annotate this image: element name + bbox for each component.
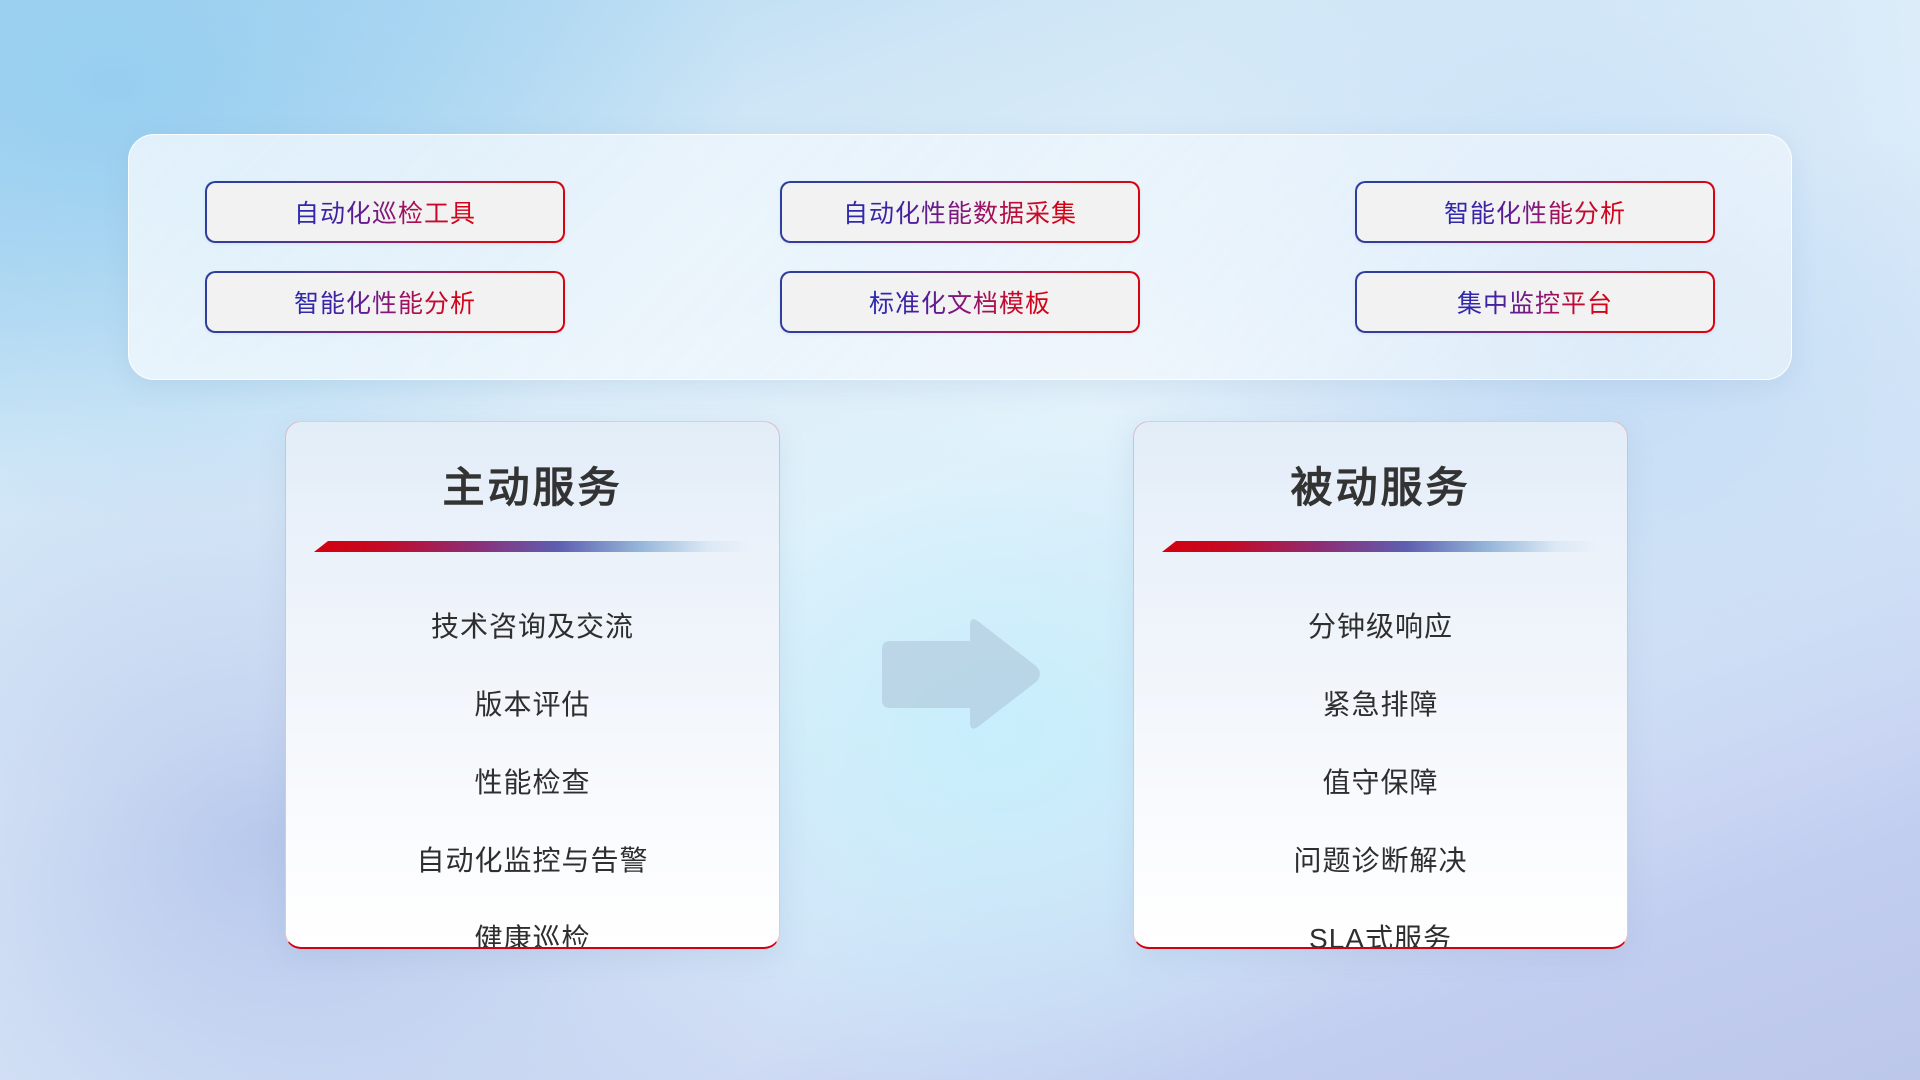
capability-tag[interactable]: 标准化文档模板 — [780, 271, 1140, 333]
card-list-item: 版本评估 — [286, 666, 779, 744]
card-list-item: 分钟级响应 — [1134, 588, 1627, 666]
service-card-active: 主动服务 技术咨询及交流 版本评估 性能检查 自动化监控与告警 健康巡检 — [285, 421, 780, 949]
card-divider — [314, 541, 751, 552]
card-title: 主动服务 — [286, 454, 779, 515]
capability-tag[interactable]: 智能化性能分析 — [1355, 181, 1715, 243]
card-list-item: 问题诊断解决 — [1134, 822, 1627, 900]
capability-tag[interactable]: 集中监控平台 — [1355, 271, 1715, 333]
service-card-passive: 被动服务 分钟级响应 紧急排障 值守保障 问题诊断解决 SLA式服务 — [1133, 421, 1628, 949]
capability-tag-label: 自动化性能数据采集 — [843, 194, 1077, 230]
card-title: 被动服务 — [1134, 454, 1627, 515]
capability-tag[interactable]: 自动化性能数据采集 — [780, 181, 1140, 243]
capability-tag-label: 标准化文档模板 — [869, 284, 1051, 320]
card-divider — [1162, 541, 1599, 552]
card-divider-bar — [1162, 541, 1599, 552]
capability-tag-row: 智能化性能分析 标准化文档模板 集中监控平台 — [205, 271, 1715, 333]
card-divider-bar — [314, 541, 751, 552]
card-list-item: 值守保障 — [1134, 744, 1627, 822]
card-item-list: 技术咨询及交流 版本评估 性能检查 自动化监控与告警 健康巡检 — [286, 588, 779, 949]
capability-tag-label: 智能化性能分析 — [1444, 194, 1626, 230]
card-list-item: 健康巡检 — [286, 900, 779, 949]
card-list-item: SLA式服务 — [1134, 900, 1627, 949]
card-list-item: 紧急排障 — [1134, 666, 1627, 744]
capability-tag-label: 自动化巡检工具 — [294, 194, 476, 230]
card-list-item: 性能检查 — [286, 744, 779, 822]
capability-tag[interactable]: 智能化性能分析 — [205, 271, 565, 333]
slide-canvas: 自动化巡检工具 自动化性能数据采集 智能化性能分析 智能化性能分析 标准化文档模… — [0, 0, 1920, 1080]
card-item-list: 分钟级响应 紧急排障 值守保障 问题诊断解决 SLA式服务 — [1134, 588, 1627, 949]
capability-tag-label: 集中监控平台 — [1457, 284, 1613, 320]
card-list-item: 技术咨询及交流 — [286, 588, 779, 666]
capability-tag-row: 自动化巡检工具 自动化性能数据采集 智能化性能分析 — [205, 181, 1715, 243]
capability-tag[interactable]: 自动化巡检工具 — [205, 181, 565, 243]
card-list-item: 自动化监控与告警 — [286, 822, 779, 900]
capability-tags-panel: 自动化巡检工具 自动化性能数据采集 智能化性能分析 智能化性能分析 标准化文档模… — [128, 134, 1792, 380]
arrow-right-icon — [874, 613, 1044, 736]
capability-tag-label: 智能化性能分析 — [294, 284, 476, 320]
